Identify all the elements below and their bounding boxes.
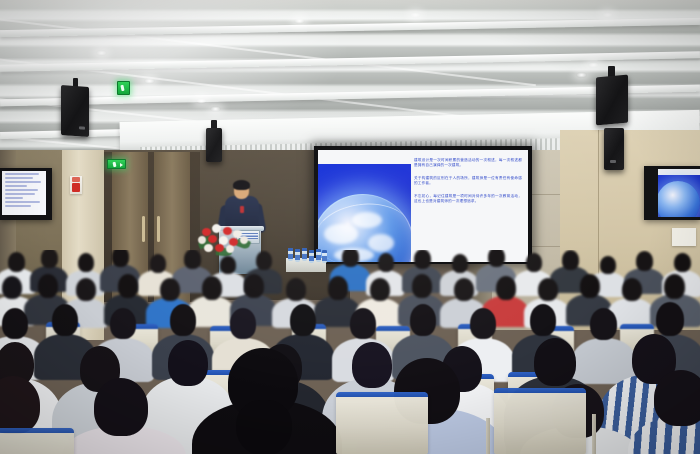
audience-head — [530, 304, 556, 336]
ceiling-speaker-right — [596, 75, 628, 126]
audience-head — [410, 304, 436, 336]
flower-white — [240, 236, 248, 244]
ceiling-downlight — [96, 50, 107, 56]
audience-head — [562, 250, 579, 270]
wall-speaker-left — [61, 85, 89, 137]
seat-headrest — [376, 326, 410, 331]
audience-member — [572, 338, 636, 384]
audience-head — [184, 250, 201, 269]
seat-leg — [592, 414, 596, 454]
audience-head — [168, 340, 208, 386]
seat-leg — [486, 418, 490, 454]
monitor-text-line — [5, 177, 33, 179]
wall-notice — [672, 228, 696, 246]
ceiling-speaker-center — [206, 128, 222, 162]
ceiling-downlight — [588, 62, 599, 68]
exit-sign — [117, 81, 130, 95]
audience-head — [350, 308, 376, 339]
wall-monitor-right-screen — [658, 169, 700, 217]
audience-head — [488, 250, 505, 267]
speaker-badge — [610, 160, 616, 163]
monitor-text-line — [5, 173, 39, 175]
audience-head — [286, 278, 306, 301]
audience-head — [94, 378, 148, 436]
audience-head — [150, 254, 166, 273]
audience-head — [220, 256, 236, 274]
exit-running-man-icon — [113, 161, 117, 167]
audience-head — [378, 253, 394, 272]
audience-head — [78, 253, 94, 272]
monitor-text-line — [5, 197, 23, 199]
ceiling-downlight — [410, 12, 421, 18]
audience-head — [656, 302, 684, 336]
audience-head — [38, 274, 58, 298]
audience-head — [664, 274, 685, 299]
flower-red — [208, 235, 217, 243]
exit-running-man-icon — [120, 85, 124, 91]
projection-screen: 建筑设计是一次时间积累的营造活动的一次叙述，每一次叙述都是拥有自己演绎的一次建筑… — [318, 150, 528, 262]
wall-speaker-right — [604, 128, 624, 170]
monitor-text-line — [5, 189, 38, 191]
audience-head — [674, 253, 691, 272]
exit-sign — [107, 159, 126, 169]
audience-head — [342, 250, 359, 267]
audience-head — [202, 276, 222, 300]
slide-text-block: 建筑设计是一次时间积累的营造活动的一次叙述，每一次叙述都是拥有自己演绎的一次建筑… — [414, 158, 522, 211]
audience-head — [118, 274, 138, 298]
audience-head — [370, 278, 390, 301]
slide-image-panel — [318, 164, 411, 262]
speaker-badge — [79, 126, 85, 129]
audience-head — [76, 278, 96, 301]
audience-head — [244, 274, 264, 298]
wall-monitor-left — [0, 168, 52, 220]
ceiling-downlight — [576, 72, 587, 78]
seat-headrest — [494, 388, 586, 393]
audience-head — [412, 274, 432, 298]
audience-head — [538, 278, 558, 301]
globe-icon — [658, 181, 700, 217]
ceiling-downlight — [210, 106, 221, 112]
monitor-text-line — [5, 205, 31, 207]
door-handle[interactable] — [142, 216, 145, 242]
audience-head — [2, 276, 22, 299]
ceiling-downlight — [294, 18, 305, 24]
audience-head — [352, 342, 392, 388]
audience-head — [290, 304, 316, 336]
slide-paragraph: 关于构建筑的区别在于人的场所，建筑师是一位有责任有使命感的工作者。 — [414, 176, 522, 187]
audience-head — [160, 278, 180, 301]
presenter-hair — [233, 180, 250, 190]
presenter-lapel-badge — [240, 206, 244, 213]
slide-paragraph: 不忘初心，每记住建筑是一项时间对待许多年的一次教育活动，这也上也是对建筑师的一次… — [414, 194, 522, 205]
audience-head — [41, 250, 58, 268]
audience-head — [8, 252, 25, 272]
ceiling-downlight — [196, 98, 207, 104]
audience-head — [622, 278, 642, 301]
seat[interactable] — [494, 388, 586, 454]
fire-extinguisher-sign — [70, 176, 82, 194]
audience-head — [470, 308, 496, 339]
seat-headrest — [0, 428, 74, 433]
seat[interactable] — [0, 428, 74, 454]
monitor-text-line — [5, 201, 40, 203]
audience-head — [170, 304, 196, 336]
monitor-text-line — [5, 185, 27, 187]
audience-head — [256, 251, 272, 270]
seat-headrest — [336, 392, 428, 397]
ceiling-downlight — [602, 12, 613, 18]
flower-white — [212, 224, 221, 233]
wall-monitor-right — [644, 166, 700, 220]
audience-head — [112, 250, 129, 267]
seat[interactable] — [336, 392, 428, 454]
audience-head — [110, 308, 136, 339]
seat-headrest — [620, 324, 654, 329]
audience-head — [496, 276, 516, 300]
flower-red — [223, 227, 232, 235]
audience-head — [534, 338, 576, 386]
fire-sign-lower — [72, 183, 80, 192]
monitor-text-line — [5, 193, 35, 195]
audience-head — [526, 253, 542, 272]
audience-head — [600, 256, 616, 274]
audience-head — [414, 250, 431, 269]
flower-white — [198, 236, 206, 244]
audience-head — [454, 278, 474, 301]
audience-head — [230, 308, 256, 339]
audience — [0, 250, 700, 454]
audience-hair — [236, 400, 292, 454]
monitor-slide-header — [658, 169, 700, 175]
audience-head — [52, 304, 78, 336]
audience-head — [2, 308, 28, 339]
wall-monitor-left-screen — [2, 171, 46, 215]
audience-head — [590, 308, 617, 340]
exit-arrow-icon — [120, 163, 123, 167]
audience-head — [654, 370, 700, 426]
audience-head — [328, 276, 348, 300]
audience-head — [452, 254, 468, 273]
slide-paragraph: 建筑设计是一次时间积累的营造活动的一次叙述，每一次叙述都是拥有自己演绎的一次建筑… — [414, 158, 522, 169]
audience-head — [580, 274, 600, 298]
fire-sign-upper — [72, 177, 80, 182]
lecture-hall-photo: 建筑设计是一次时间积累的营造活动的一次叙述，每一次叙述都是拥有自己演绎的一次建筑… — [0, 0, 700, 454]
door-handle[interactable] — [157, 216, 160, 242]
monitor-text-line — [5, 181, 41, 183]
audience-head — [636, 251, 653, 271]
ceiling-downlight — [144, 78, 155, 84]
